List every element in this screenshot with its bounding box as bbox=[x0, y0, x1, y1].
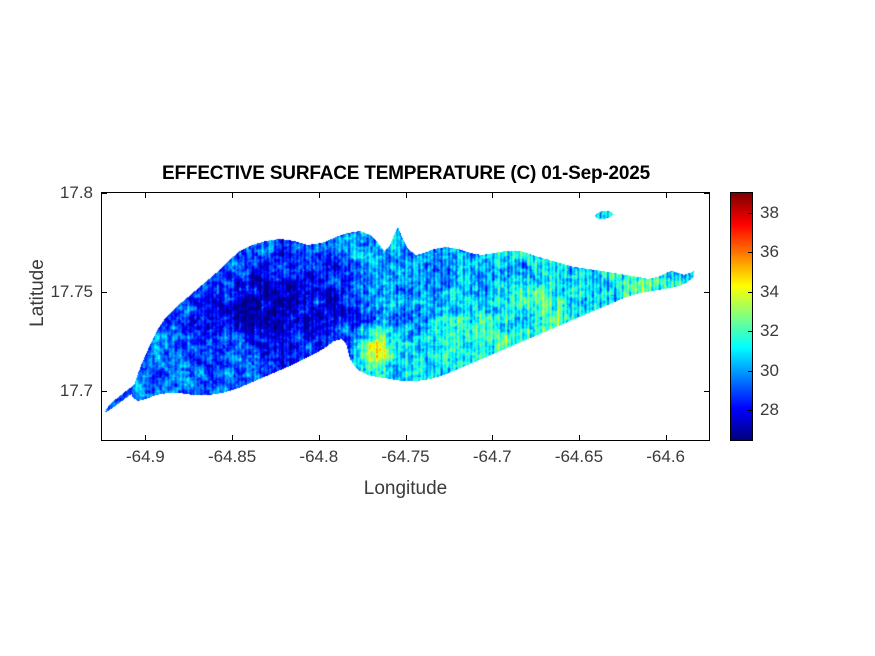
y-tick-label: 17.8 bbox=[60, 183, 93, 203]
x-axis-label: Longitude bbox=[101, 478, 710, 500]
x-tick-mark bbox=[666, 192, 667, 198]
colorbar-tick-mark bbox=[748, 371, 752, 372]
colorbar-tick-mark bbox=[748, 331, 752, 332]
x-tick-mark bbox=[579, 435, 580, 441]
x-tick-mark bbox=[579, 192, 580, 198]
x-tick-mark bbox=[145, 435, 146, 441]
x-tick-label: -64.65 bbox=[555, 447, 603, 467]
colorbar bbox=[730, 192, 753, 441]
colorbar-tick-label: 34 bbox=[760, 282, 779, 302]
y-tick-mark bbox=[101, 193, 107, 194]
x-tick-mark bbox=[319, 192, 320, 198]
x-tick-label: -64.9 bbox=[126, 447, 165, 467]
page-title: EFFECTIVE SURFACE TEMPERATURE (C) 01-Sep… bbox=[101, 163, 711, 185]
colorbar-tick-label: 36 bbox=[760, 242, 779, 262]
x-tick-mark bbox=[145, 192, 146, 198]
y-axis-label: Latitude bbox=[27, 233, 49, 353]
x-tick-mark bbox=[492, 192, 493, 198]
figure-canvas: EFFECTIVE SURFACE TEMPERATURE (C) 01-Sep… bbox=[0, 0, 875, 656]
colorbar-tick-label: 30 bbox=[760, 361, 779, 381]
colorbar-gradient bbox=[731, 193, 752, 440]
colorbar-tick-mark bbox=[748, 410, 752, 411]
x-tick-mark bbox=[232, 435, 233, 441]
x-tick-mark bbox=[319, 435, 320, 441]
x-tick-label: -64.75 bbox=[381, 447, 429, 467]
x-tick-label: -64.8 bbox=[299, 447, 338, 467]
y-tick-mark bbox=[704, 391, 710, 392]
y-tick-mark bbox=[704, 193, 710, 194]
x-tick-label: -64.6 bbox=[646, 447, 685, 467]
y-tick-label: 17.75 bbox=[50, 282, 93, 302]
y-tick-mark bbox=[101, 391, 107, 392]
x-tick-mark bbox=[666, 435, 667, 441]
colorbar-tick-label: 38 bbox=[760, 203, 779, 223]
y-tick-mark bbox=[704, 292, 710, 293]
temperature-heatmap bbox=[102, 193, 709, 440]
colorbar-tick-mark bbox=[748, 252, 752, 253]
colorbar-tick-label: 32 bbox=[760, 321, 779, 341]
x-tick-label: -64.7 bbox=[473, 447, 512, 467]
plot-area bbox=[101, 192, 710, 441]
x-tick-mark bbox=[492, 435, 493, 441]
x-tick-mark bbox=[406, 192, 407, 198]
x-tick-label: -64.85 bbox=[208, 447, 256, 467]
x-tick-mark bbox=[406, 435, 407, 441]
y-tick-label: 17.7 bbox=[60, 381, 93, 401]
y-tick-mark bbox=[101, 292, 107, 293]
colorbar-tick-label: 28 bbox=[760, 400, 779, 420]
colorbar-tick-mark bbox=[748, 213, 752, 214]
x-tick-mark bbox=[232, 192, 233, 198]
colorbar-tick-mark bbox=[748, 292, 752, 293]
